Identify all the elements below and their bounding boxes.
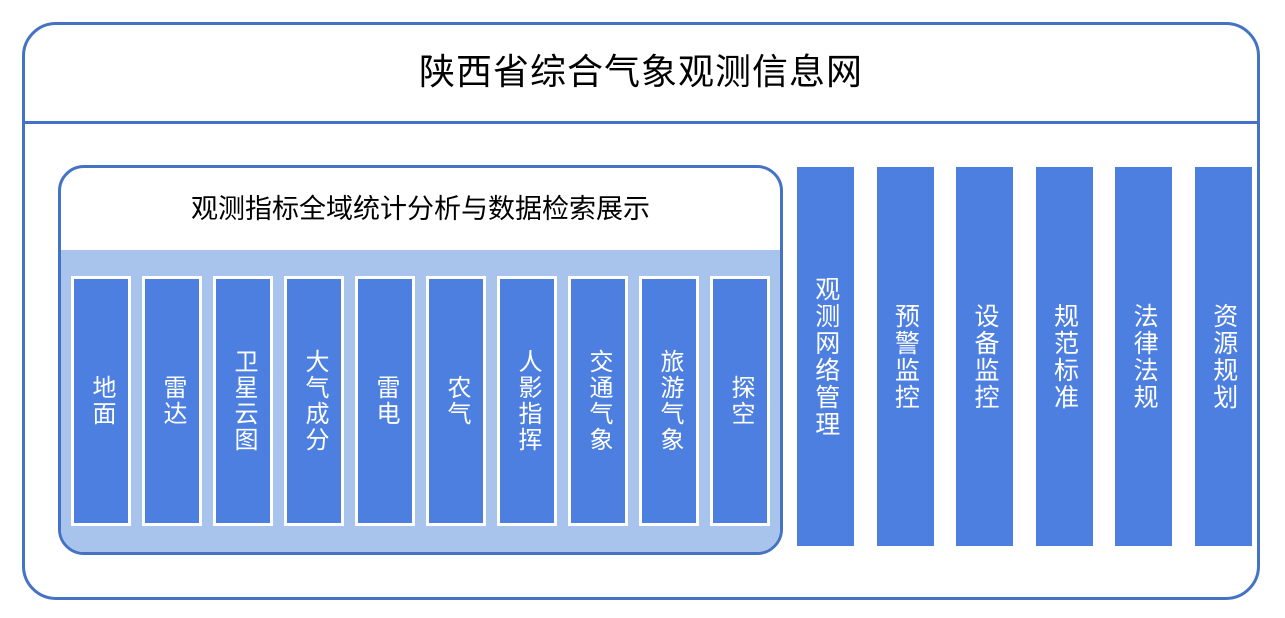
observation-card-label: 人影指挥 bbox=[512, 349, 542, 453]
module-column[interactable]: 设备监控 bbox=[956, 167, 1013, 546]
observation-card[interactable]: 农气 bbox=[426, 276, 486, 526]
module-column[interactable]: 预警监控 bbox=[877, 167, 934, 546]
diagram-canvas: 陕西省综合气象观测信息网 观测指标全域统计分析与数据检索展示 地面 雷达 卫星云… bbox=[0, 0, 1285, 618]
observation-card[interactable]: 大气成分 bbox=[284, 276, 344, 526]
module-column-list: 观测网络管理 预警监控 设备监控 规范标准 法律法规 资源规划 bbox=[797, 167, 1252, 546]
observation-card-label: 地面 bbox=[86, 375, 116, 427]
module-column[interactable]: 法律法规 bbox=[1115, 167, 1172, 546]
module-column[interactable]: 观测网络管理 bbox=[797, 167, 854, 546]
observation-card[interactable]: 探空 bbox=[710, 276, 770, 526]
observation-card-label: 探空 bbox=[725, 375, 755, 427]
observation-statistics-panel: 观测指标全域统计分析与数据检索展示 地面 雷达 卫星云图 大气成分 雷电 农气 … bbox=[58, 165, 783, 555]
observation-card-label: 旅游气象 bbox=[654, 349, 684, 453]
observation-card-label: 农气 bbox=[441, 375, 471, 427]
observation-card[interactable]: 雷电 bbox=[355, 276, 415, 526]
module-column-label: 法律法规 bbox=[1129, 303, 1160, 411]
observation-card[interactable]: 人影指挥 bbox=[497, 276, 557, 526]
module-column[interactable]: 资源规划 bbox=[1195, 167, 1252, 546]
module-column-label: 预警监控 bbox=[890, 303, 921, 411]
module-column[interactable]: 规范标准 bbox=[1036, 167, 1093, 546]
observation-card-label: 交通气象 bbox=[583, 349, 613, 453]
observation-card[interactable]: 地面 bbox=[71, 276, 131, 526]
observation-card-label: 雷达 bbox=[157, 375, 187, 427]
observation-card-label: 卫星云图 bbox=[228, 349, 258, 453]
module-column-label: 观测网络管理 bbox=[810, 276, 841, 438]
observation-card-label: 雷电 bbox=[370, 375, 400, 427]
observation-card[interactable]: 雷达 bbox=[142, 276, 202, 526]
module-column-label: 设备监控 bbox=[969, 303, 1000, 411]
observation-card[interactable]: 卫星云图 bbox=[213, 276, 273, 526]
title-divider bbox=[22, 121, 1260, 124]
module-column-label: 资源规划 bbox=[1208, 303, 1239, 411]
module-column-label: 规范标准 bbox=[1049, 303, 1080, 411]
observation-card-list: 地面 雷达 卫星云图 大气成分 雷电 农气 人影指挥 交通气象 bbox=[61, 250, 780, 552]
observation-card[interactable]: 旅游气象 bbox=[639, 276, 699, 526]
panel-title: 观测指标全域统计分析与数据检索展示 bbox=[61, 168, 780, 250]
page-title: 陕西省综合气象观测信息网 bbox=[22, 50, 1260, 94]
observation-card-label: 大气成分 bbox=[299, 349, 329, 453]
observation-card[interactable]: 交通气象 bbox=[568, 276, 628, 526]
